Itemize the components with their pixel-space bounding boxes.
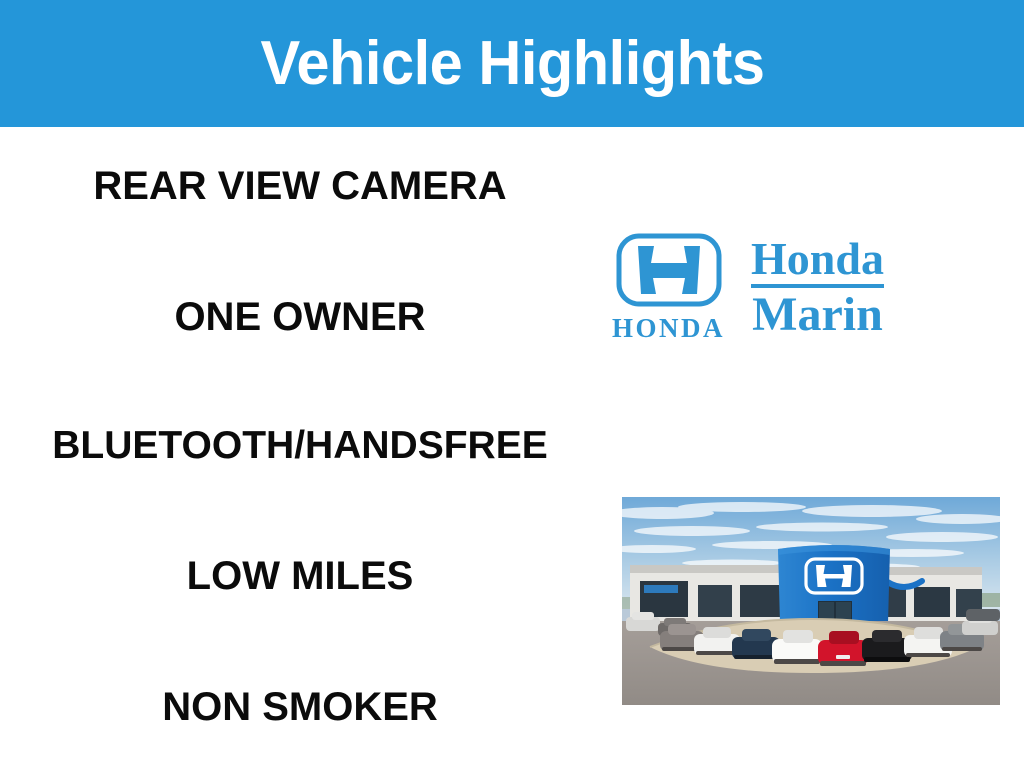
list-item: ONE OWNER: [0, 296, 600, 338]
dealer-name-line1: Honda: [751, 236, 884, 282]
list-item: BLUETOOTH/HANDSFREE: [0, 426, 600, 467]
dealership-photo-illustration: [622, 497, 1000, 705]
branding-column: HONDA Honda Marin: [600, 127, 1024, 768]
page-title: Vehicle Highlights: [260, 33, 764, 95]
honda-marin-logo: HONDA Honda Marin: [612, 227, 1012, 347]
honda-wordmark: HONDA: [612, 315, 725, 342]
dealer-name-line2: Marin: [752, 291, 883, 339]
honda-h-emblem: [614, 232, 724, 308]
list-item: LOW MILES: [0, 555, 600, 597]
header-bar: Vehicle Highlights: [0, 0, 1024, 127]
vehicle-highlights-list: REAR VIEW CAMERA ONE OWNER BLUETOOTH/HAN…: [0, 127, 600, 768]
dealer-name: Honda Marin: [751, 236, 884, 339]
dealer-name-divider: [751, 284, 884, 288]
honda-brand-mark: HONDA: [612, 232, 725, 342]
list-item: NON SMOKER: [0, 686, 600, 728]
list-item: REAR VIEW CAMERA: [0, 165, 600, 207]
dealership-photo: [622, 497, 1000, 705]
